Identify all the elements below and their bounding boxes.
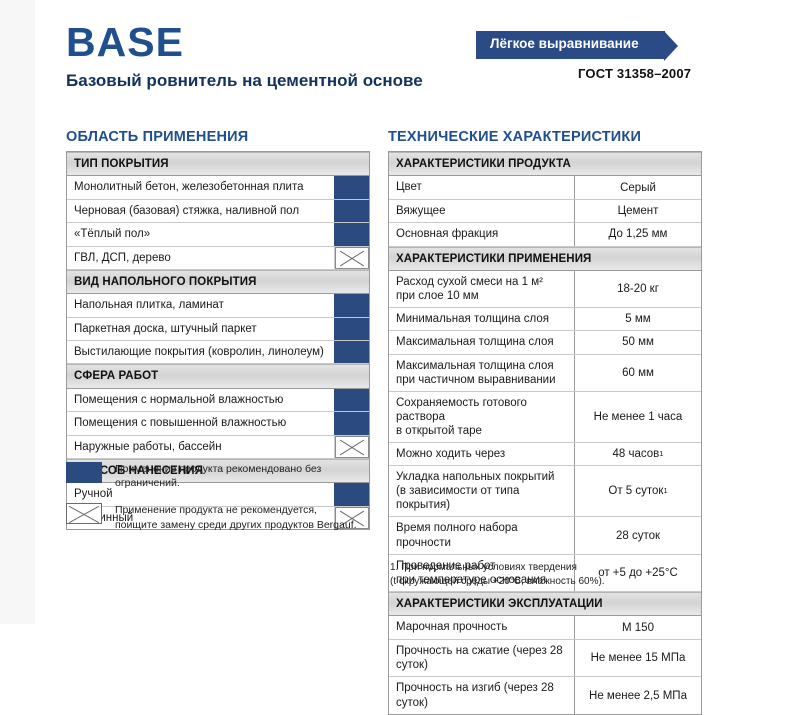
marker-recommended-icon <box>334 318 369 340</box>
group-header-label: ХАРАКТЕРИСТИКИ ПРИМЕНЕНИЯ <box>389 248 701 270</box>
table-row: Монолитный бетон, железобетонная плита <box>67 176 369 199</box>
marker-recommended-icon <box>334 389 369 411</box>
marker-recommended-icon <box>334 200 369 222</box>
characteristic-label: Можно ходить через <box>389 443 574 465</box>
characteristic-value: 5 мм <box>574 308 701 330</box>
group-header-row: ТИП ПОКРЫТИЯ <box>67 152 369 176</box>
characteristic-label: Сохраняемость готового растворав открыто… <box>389 392 574 442</box>
table-row: «Тёплый пол» <box>67 223 369 246</box>
table-row: Выстилающие покрытия (ковролин, линолеум… <box>67 341 369 364</box>
characteristic-label: Цвет <box>389 176 574 198</box>
application-label: Помещения с нормальной влажностью <box>67 389 334 411</box>
marker-recommended-icon <box>334 412 369 434</box>
legend-text: Применение продукта рекомендовано без ог… <box>115 461 386 490</box>
characteristic-value: Не менее 15 МПа <box>574 640 701 677</box>
characteristic-value: 60 мм <box>574 355 701 391</box>
table-row: Помещения с нормальной влажностью <box>67 389 369 412</box>
characteristic-label: Марочная прочность <box>389 616 574 638</box>
table-row: Максимальная толщина слояпри частичном в… <box>389 355 701 392</box>
characteristic-value: 50 мм <box>574 331 701 353</box>
table-row: Марочная прочностьМ 150 <box>389 616 701 639</box>
characteristic-label: Прочность на изгиб (через 28 суток) <box>389 677 574 714</box>
table-row: Время полного набора прочности28 суток <box>389 517 701 555</box>
technical-footnote: 1. При нормальных условиях твердения(t о… <box>390 561 605 588</box>
application-label: Выстилающие покрытия (ковролин, линолеум… <box>67 341 334 363</box>
application-label: Черновая (базовая) стяжка, наливной пол <box>67 200 334 222</box>
group-header-label: ХАРАКТЕРИСТИКИ ЭКСПЛУАТАЦИИ <box>389 593 701 615</box>
characteristic-value: От 5 суток1 <box>574 466 701 516</box>
characteristic-label: Прочность на сжатие (через 28 суток) <box>389 640 574 677</box>
characteristic-value: Серый <box>574 176 701 198</box>
group-header-row: ХАРАКТЕРИСТИКИ ЭКСПЛУАТАЦИИ <box>389 592 701 616</box>
marker-recommended-icon <box>334 294 369 316</box>
characteristic-label: Основная фракция <box>389 223 574 245</box>
table-row: Минимальная толщина слоя5 мм <box>389 308 701 331</box>
group-header-row: ХАРАКТЕРИСТИКИ ПРИМЕНЕНИЯ <box>389 247 701 271</box>
technical-characteristics-table: ХАРАКТЕРИСТИКИ ПРОДУКТАЦветСерыйВяжущееЦ… <box>388 151 702 715</box>
section-title-application: ОБЛАСТЬ ПРИМЕНЕНИЯ <box>66 129 248 145</box>
table-row: ВяжущееЦемент <box>389 200 701 223</box>
marker-not-recommended-icon <box>334 436 369 458</box>
characteristic-label: Расход сухой смеси на 1 м²при слое 10 мм <box>389 271 574 307</box>
table-row: Основная фракцияДо 1,25 мм <box>389 223 701 246</box>
legend-item: Применение продукта не рекомендуется,пои… <box>66 502 386 531</box>
legend-item: Применение продукта рекомендовано без ог… <box>66 461 386 490</box>
group-header-label: ХАРАКТЕРИСТИКИ ПРОДУКТА <box>389 153 701 175</box>
table-row: Можно ходить через48 часов1 <box>389 443 701 466</box>
application-label: Монолитный бетон, железобетонная плита <box>67 176 334 198</box>
table-row: ЦветСерый <box>389 176 701 199</box>
table-row: Укладка напольных покрытий(в зависимости… <box>389 466 701 517</box>
legend: Применение продукта рекомендовано без ог… <box>66 461 386 544</box>
characteristic-label: Время полного набора прочности <box>389 517 574 554</box>
standard-label: ГОСТ 31358–2007 <box>578 66 691 81</box>
table-row: Паркетная доска, штучный паркет <box>67 318 369 341</box>
characteristic-label: Вяжущее <box>389 200 574 222</box>
application-label: «Тёплый пол» <box>67 223 334 245</box>
table-row: Максимальная толщина слоя50 мм <box>389 331 701 354</box>
group-header-label: ТИП ПОКРЫТИЯ <box>67 153 369 175</box>
marker-not-recommended-icon <box>334 247 369 269</box>
table-row: Прочность на сжатие (через 28 суток)Не м… <box>389 640 701 678</box>
characteristic-label: Минимальная толщина слоя <box>389 308 574 330</box>
application-label: Напольная плитка, ламинат <box>67 294 334 316</box>
marker-recommended-icon <box>334 176 369 198</box>
group-header-row: ВИД НАПОЛЬНОГО ПОКРЫТИЯ <box>67 270 369 294</box>
group-header-label: ВИД НАПОЛЬНОГО ПОКРЫТИЯ <box>67 271 369 293</box>
characteristic-value: До 1,25 мм <box>574 223 701 245</box>
feature-badge: Лёгкое выравнивание <box>476 31 665 59</box>
characteristic-value: Цемент <box>574 200 701 222</box>
legend-recommended-icon <box>66 462 102 483</box>
table-row: Черновая (базовая) стяжка, наливной пол <box>67 200 369 223</box>
table-row: Расход сухой смеси на 1 м²при слое 10 мм… <box>389 271 701 308</box>
group-header-row: ХАРАКТЕРИСТИКИ ПРОДУКТА <box>389 152 701 176</box>
application-label: ГВЛ, ДСП, дерево <box>67 247 334 269</box>
marker-recommended-icon <box>334 223 369 245</box>
legend-not-recommended-icon <box>66 503 102 524</box>
application-label: Помещения с повышенной влажностью <box>67 412 334 434</box>
table-row: Сохраняемость готового растворав открыто… <box>389 392 701 443</box>
characteristic-label: Максимальная толщина слояпри частичном в… <box>389 355 574 391</box>
application-label: Наружные работы, бассейн <box>67 436 334 458</box>
characteristic-label: Укладка напольных покрытий(в зависимости… <box>389 466 574 516</box>
datasheet-page: BASE Базовый ровнитель на цементной осно… <box>0 0 797 624</box>
characteristic-value: М 150 <box>574 616 701 638</box>
group-header-row: СФЕРА РАБОТ <box>67 364 369 388</box>
application-label: Паркетная доска, штучный паркет <box>67 318 334 340</box>
characteristic-value: 48 часов1 <box>574 443 701 465</box>
marker-recommended-icon <box>334 341 369 363</box>
characteristic-value: 28 суток <box>574 517 701 554</box>
characteristic-value: Не менее 1 часа <box>574 392 701 442</box>
characteristic-value: 18-20 кг <box>574 271 701 307</box>
characteristic-label: Максимальная толщина слоя <box>389 331 574 353</box>
feature-badge-wrapper: Лёгкое выравнивание <box>476 31 665 59</box>
legend-text: Применение продукта не рекомендуется,пои… <box>115 502 357 531</box>
section-title-technical: ТЕХНИЧЕСКИЕ ХАРАКТЕРИСТИКИ <box>388 129 641 145</box>
characteristic-value: Не менее 2,5 МПа <box>574 677 701 714</box>
group-header-label: СФЕРА РАБОТ <box>67 365 369 387</box>
table-row: ГВЛ, ДСП, дерево <box>67 247 369 270</box>
table-row: Помещения с повышенной влажностью <box>67 412 369 435</box>
table-row: Напольная плитка, ламинат <box>67 294 369 317</box>
table-row: Наружные работы, бассейн <box>67 436 369 459</box>
table-row: Прочность на изгиб (через 28 суток)Не ме… <box>389 677 701 714</box>
